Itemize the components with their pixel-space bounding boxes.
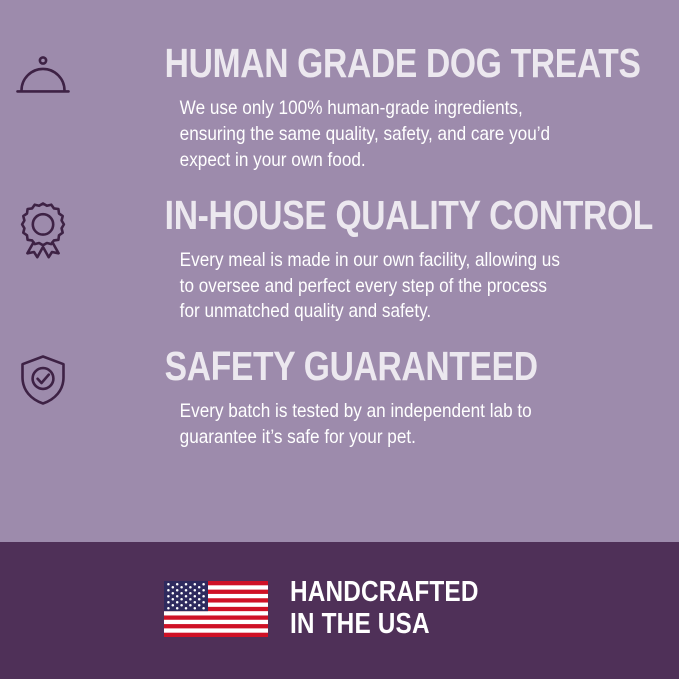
cloche-icon bbox=[12, 46, 74, 108]
feature-body-line: for unmatched quality and safety. bbox=[180, 299, 575, 325]
product-feature-poster: HUMAN GRADE DOG TREATS We use only 100% … bbox=[0, 0, 679, 679]
banner-line-2: IN THE USA bbox=[290, 609, 479, 640]
feature-heading: IN-HOUSE QUALITY CONTROL bbox=[104, 196, 543, 235]
feature-body: Every meal is made in our own facility, … bbox=[104, 248, 575, 326]
feature-body-line: Every meal is made in our own facility, … bbox=[180, 248, 575, 274]
made-in-usa-banner: HANDCRAFTED IN THE USA bbox=[0, 542, 679, 679]
feature-heading: HUMAN GRADE DOG TREATS bbox=[104, 44, 543, 83]
feature-body-line: expect in your own food. bbox=[180, 148, 575, 174]
feature-body-line: Every batch is tested by an independent … bbox=[180, 399, 575, 425]
feature-body: Every batch is tested by an independent … bbox=[104, 399, 575, 451]
banner-line-1: HANDCRAFTED bbox=[290, 577, 479, 608]
feature-body-line: guarantee it’s safe for your pet. bbox=[180, 425, 575, 451]
feature-item-safety: SAFETY GUARANTEED Every batch is tested … bbox=[104, 347, 639, 451]
feature-body-line: We use only 100% human-grade ingredients… bbox=[180, 96, 575, 122]
feature-item-human-grade: HUMAN GRADE DOG TREATS We use only 100% … bbox=[104, 44, 639, 174]
features-section: HUMAN GRADE DOG TREATS We use only 100% … bbox=[0, 0, 679, 542]
feature-heading: SAFETY GUARANTEED bbox=[104, 347, 543, 386]
feature-body-line: ensuring the same quality, safety, and c… bbox=[180, 122, 575, 148]
usa-flag-icon bbox=[164, 581, 268, 637]
feature-body-line: to oversee and perfect every step of the… bbox=[180, 274, 575, 300]
feature-item-quality-control: IN-HOUSE QUALITY CONTROL Every meal is m… bbox=[104, 196, 639, 326]
shield-check-icon bbox=[12, 349, 74, 411]
award-rosette-icon bbox=[12, 198, 74, 260]
feature-body: We use only 100% human-grade ingredients… bbox=[104, 96, 575, 174]
banner-text: HANDCRAFTED IN THE USA bbox=[290, 577, 479, 640]
